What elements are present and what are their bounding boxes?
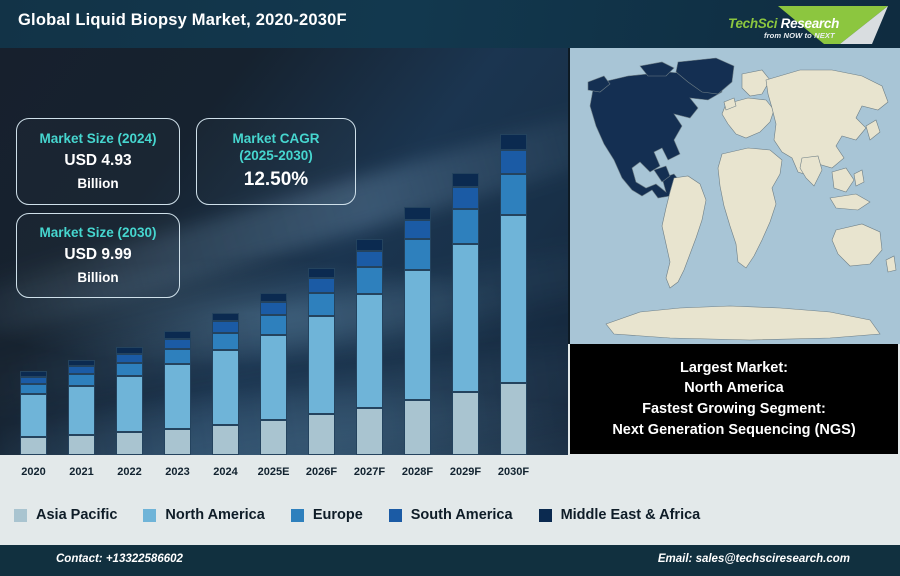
chart-panel: Market Size (2024) USD 4.93 Billion Mark… [0, 48, 568, 485]
bar-segment-north-america [452, 244, 479, 392]
bar-segment-south-america [356, 251, 383, 268]
logo-research-text: Research [777, 16, 839, 31]
bar-segment-europe [164, 349, 191, 364]
chart-legend: Asia PacificNorth AmericaEuropeSouth Ame… [0, 485, 900, 545]
bar-segment-asia-pacific [356, 408, 383, 455]
bar-2026F[interactable] [308, 268, 335, 455]
bar-2020[interactable] [20, 371, 47, 455]
bar-2030F[interactable] [500, 134, 527, 455]
footer-bar: Contact: +13322586602 Email: sales@techs… [0, 545, 900, 576]
bar-2025E[interactable] [260, 293, 287, 455]
legend-item-south-america[interactable]: South America [389, 507, 513, 523]
x-axis-label-2030F: 2030F [490, 466, 538, 478]
bar-segment-south-america [308, 278, 335, 293]
stacked-bar-chart: 202020212022202320242025E2026F2027F2028F… [0, 48, 568, 485]
insight-line-1: Largest Market: [680, 358, 788, 379]
legend-item-middle-east-africa[interactable]: Middle East & Africa [539, 507, 701, 523]
bar-segment-north-america [500, 215, 527, 383]
bar-segment-south-america [452, 187, 479, 208]
legend-swatch-icon [14, 509, 27, 522]
bar-segment-middle-east-africa [212, 313, 239, 322]
page-title: Global Liquid Biopsy Market, 2020-2030F [18, 11, 347, 30]
bar-segment-south-america [20, 377, 47, 384]
bar-segment-europe [212, 333, 239, 351]
bar-2022[interactable] [116, 347, 143, 455]
bar-2029F[interactable] [452, 173, 479, 455]
insight-line-4: Next Generation Sequencing (NGS) [612, 420, 855, 441]
footer-contact: Contact: +13322586602 [56, 553, 183, 565]
bar-segment-asia-pacific [212, 425, 239, 455]
bar-segment-middle-east-africa [500, 134, 527, 150]
bar-segment-asia-pacific [164, 429, 191, 455]
legend-swatch-icon [291, 509, 304, 522]
legend-label: Middle East & Africa [561, 507, 701, 523]
bar-segment-south-america [212, 321, 239, 332]
bar-segment-europe [356, 267, 383, 294]
bar-2021[interactable] [68, 360, 95, 455]
infographic-root: Global Liquid Biopsy Market, 2020-2030F … [0, 0, 900, 576]
bar-segment-south-america [164, 339, 191, 349]
world-map [568, 48, 900, 344]
bar-segment-asia-pacific [308, 414, 335, 455]
insight-line-2: North America [684, 378, 783, 399]
legend-swatch-icon [539, 509, 552, 522]
insight-line-3: Fastest Growing Segment: [642, 399, 826, 420]
legend-label: South America [411, 507, 513, 523]
x-axis-label-2027F: 2027F [346, 466, 394, 478]
bar-segment-middle-east-africa [260, 293, 287, 302]
header-bar: Global Liquid Biopsy Market, 2020-2030F … [0, 0, 900, 48]
bar-segment-north-america [68, 386, 95, 435]
x-axis-label-2028F: 2028F [394, 466, 442, 478]
bar-segment-north-america [20, 394, 47, 437]
bar-2027F[interactable] [356, 239, 383, 455]
logo-wordmark: TechSci Research [728, 16, 878, 31]
bar-segment-asia-pacific [260, 420, 287, 455]
bar-segment-south-america [68, 366, 95, 374]
legend-swatch-icon [143, 509, 156, 522]
bar-segment-north-america [404, 270, 431, 400]
bar-2023[interactable] [164, 331, 191, 455]
x-axis-label-2024: 2024 [202, 466, 250, 478]
bar-segment-north-america [356, 294, 383, 407]
bar-2028F[interactable] [404, 207, 431, 455]
bar-segment-middle-east-africa [404, 207, 431, 220]
bar-segment-north-america [116, 376, 143, 432]
legend-label: Asia Pacific [36, 507, 117, 523]
bar-segment-south-america [260, 302, 287, 315]
x-axis-label-2020: 2020 [10, 466, 58, 478]
bar-segment-north-america [164, 364, 191, 429]
x-axis-label-2025E: 2025E [250, 466, 298, 478]
bar-segment-middle-east-africa [116, 347, 143, 354]
bar-segment-europe [452, 209, 479, 244]
bar-segment-europe [404, 239, 431, 270]
x-axis-label-2026F: 2026F [298, 466, 346, 478]
brand-logo: TechSci Research from NOW to NEXT [712, 2, 892, 46]
bar-segment-europe [500, 174, 527, 214]
bar-segment-north-america [308, 316, 335, 414]
bar-segment-south-america [116, 354, 143, 363]
legend-label: Europe [313, 507, 363, 523]
bar-segment-south-america [500, 150, 527, 174]
bar-segment-middle-east-africa [356, 239, 383, 250]
logo-tech-text: TechSci [728, 16, 777, 31]
bar-2024[interactable] [212, 313, 239, 455]
bar-segment-europe [68, 374, 95, 386]
bar-segment-middle-east-africa [308, 268, 335, 278]
world-map-svg [570, 48, 900, 344]
bar-segment-europe [260, 315, 287, 335]
bar-segment-middle-east-africa [164, 331, 191, 339]
bar-segment-asia-pacific [500, 383, 527, 455]
bar-segment-north-america [212, 350, 239, 424]
bar-segment-asia-pacific [452, 392, 479, 455]
bar-segment-south-america [404, 220, 431, 239]
legend-item-europe[interactable]: Europe [291, 507, 363, 523]
logo-tagline: from NOW to NEXT [764, 31, 835, 40]
bar-segment-asia-pacific [404, 400, 431, 455]
legend-label: North America [165, 507, 264, 523]
legend-item-asia-pacific[interactable]: Asia Pacific [14, 507, 117, 523]
x-axis-label-2021: 2021 [58, 466, 106, 478]
footer-email: Email: sales@techsciresearch.com [658, 553, 850, 565]
bar-segment-middle-east-africa [452, 173, 479, 187]
bar-segment-asia-pacific [68, 435, 95, 455]
x-axis-label-2029F: 2029F [442, 466, 490, 478]
bar-segment-europe [308, 293, 335, 316]
bar-segment-asia-pacific [116, 432, 143, 455]
x-axis-label-2023: 2023 [154, 466, 202, 478]
bar-segment-europe [20, 384, 47, 394]
bar-segment-europe [116, 363, 143, 376]
bar-segment-asia-pacific [20, 437, 47, 455]
legend-item-north-america[interactable]: North America [143, 507, 264, 523]
bar-segment-north-america [260, 335, 287, 420]
legend-swatch-icon [389, 509, 402, 522]
key-insights-box: Largest Market: North America Fastest Gr… [570, 344, 898, 454]
x-axis-label-2022: 2022 [106, 466, 154, 478]
